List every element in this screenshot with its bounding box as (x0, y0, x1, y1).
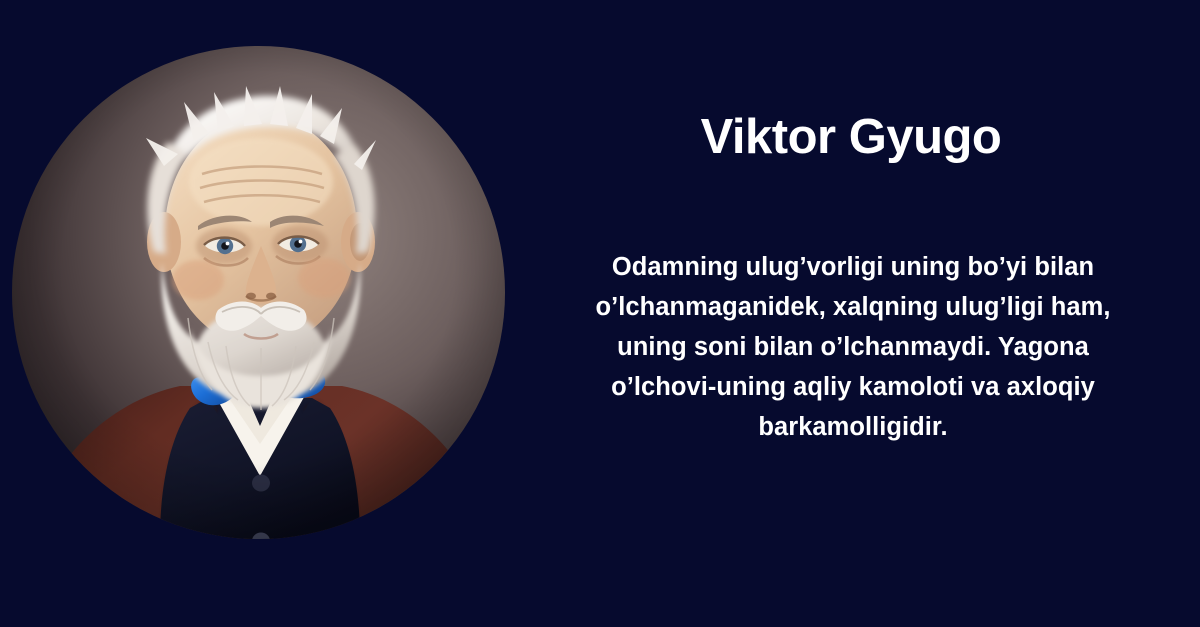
quote-line: o’lchovi-uning aqliy kamoloti va axloqiy (523, 367, 1183, 407)
quote-line: barkamolligidir. (523, 407, 1183, 447)
quote-line: uning soni bilan o’lchanmaydi. Yagona (523, 327, 1183, 367)
quote-block: Odamning ulug’vorligi uning bo’yi bilan … (523, 247, 1183, 447)
quote-card: Viktor Gyugo Odamning ulug’vorligi uning… (0, 0, 1200, 627)
portrait-image (12, 46, 505, 539)
page-title: Viktor Gyugo (515, 112, 1187, 163)
quote-line: Odamning ulug’vorligi uning bo’yi bilan (523, 247, 1183, 287)
portrait-illustration (12, 46, 505, 539)
text-column: Viktor Gyugo Odamning ulug’vorligi uning… (515, 0, 1187, 627)
quote-line: o’lchanmaganidek, xalqning ulug’ligi ham… (523, 287, 1183, 327)
